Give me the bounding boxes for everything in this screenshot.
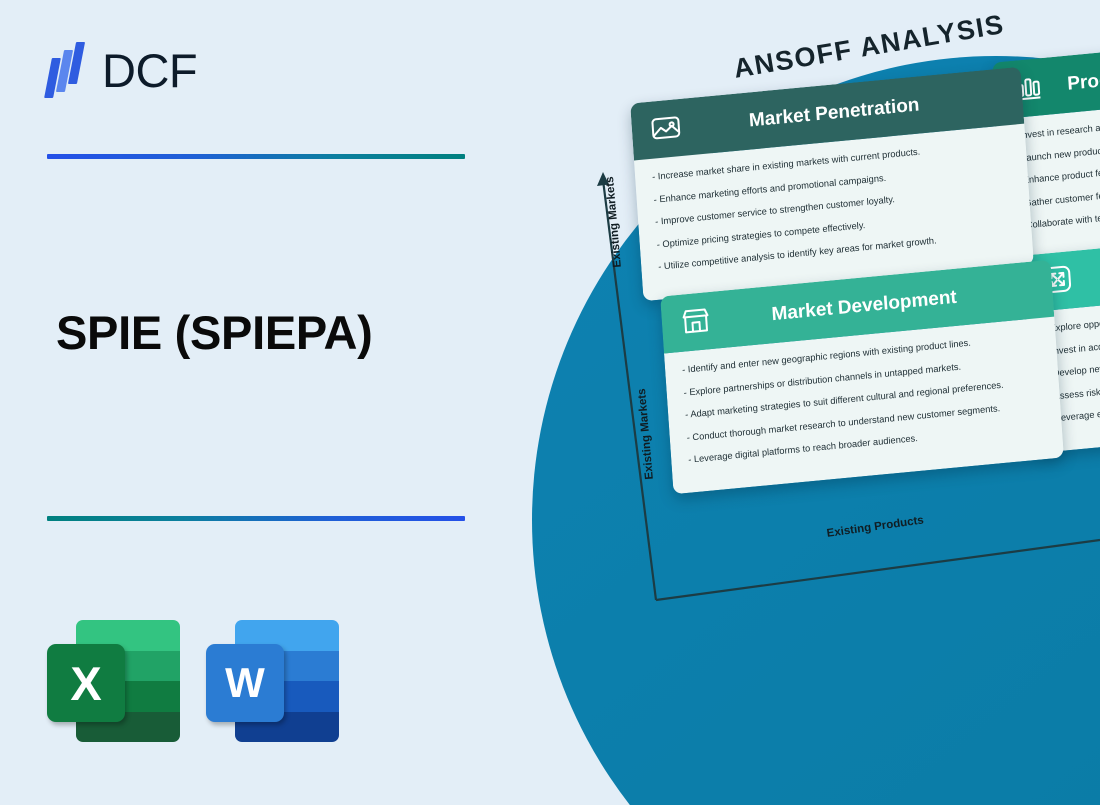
dcf-bars-icon xyxy=(47,42,89,98)
word-download-icon[interactable]: W xyxy=(206,620,339,742)
divider-top xyxy=(47,154,465,159)
excel-download-icon[interactable]: X xyxy=(47,620,180,742)
slide-canvas: DCF SPIE (SPIEPA) X xyxy=(0,0,1100,805)
left-info-panel: DCF SPIE (SPIEPA) X xyxy=(0,0,560,805)
download-icons: X W xyxy=(47,620,339,742)
storefront-icon xyxy=(677,301,715,340)
word-tile: W xyxy=(206,644,284,722)
excel-tile: X xyxy=(47,644,125,722)
excel-letter: X xyxy=(70,660,101,707)
divider-bottom xyxy=(47,516,465,521)
page-title: SPIE (SPIEPA) xyxy=(56,306,526,360)
brand-logo: DCF xyxy=(47,42,197,98)
image-frame-icon xyxy=(647,108,685,147)
quadrant-card-market-development[interactable]: Market Development - Identify and enter … xyxy=(660,260,1064,495)
brand-name: DCF xyxy=(102,47,197,94)
word-letter: W xyxy=(225,662,265,704)
ansoff-matrix-graphic: ANSOFF ANALYSIS Existing Markets Existin… xyxy=(476,0,1100,805)
